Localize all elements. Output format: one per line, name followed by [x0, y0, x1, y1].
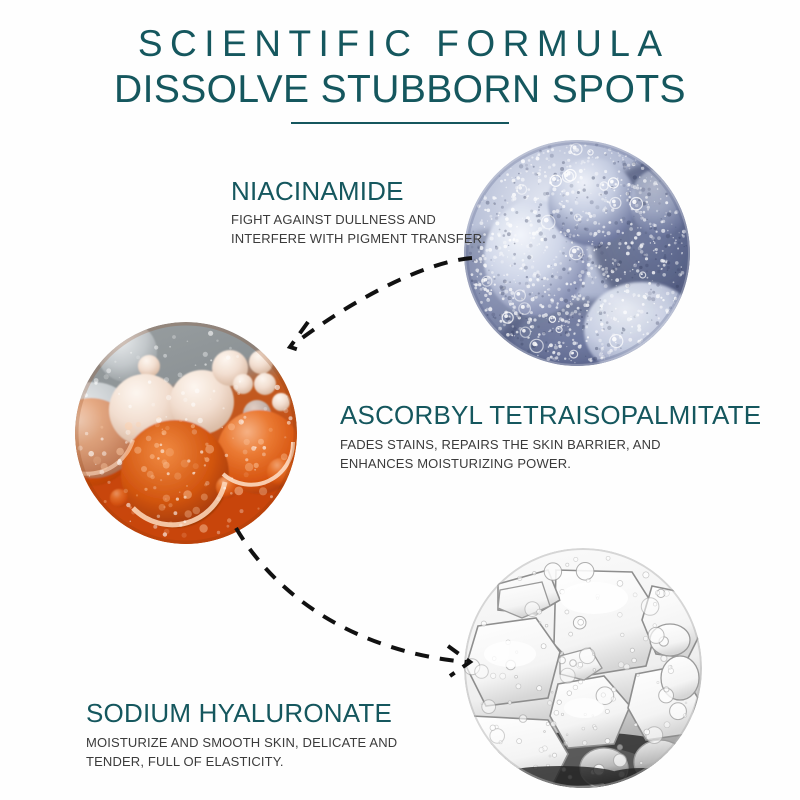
infographic-canvas: SCIENTIFIC FORMULA DISSOLVE STUBBORN SPO… [0, 0, 800, 800]
section-title-niacinamide: NIACINAMIDE [231, 176, 491, 206]
section-title-sodium: SODIUM HYALURONATE [86, 698, 456, 729]
section-ascorbyl: ASCORBYL TETRAISOPALMITATE FADES STAINS,… [340, 400, 690, 473]
section-body-ascorbyl: FADES STAINS, REPAIRS THE SKIN BARRIER, … [340, 436, 690, 473]
arrow-niacinamide-to-ascorbyl [290, 258, 472, 352]
page-header: SCIENTIFIC FORMULA DISSOLVE STUBBORN SPO… [0, 22, 800, 124]
header-divider-rule [291, 122, 509, 124]
page-title-line-1: SCIENTIFIC FORMULA [0, 22, 800, 66]
section-niacinamide: NIACINAMIDE FIGHT AGAINST DULLNESS AND I… [231, 176, 491, 248]
section-body-niacinamide: FIGHT AGAINST DULLNESS AND INTERFERE WIT… [231, 211, 491, 248]
section-title-ascorbyl: ASCORBYL TETRAISOPALMITATE [340, 400, 690, 431]
section-sodium: SODIUM HYALURONATE MOISTURIZE AND SMOOTH… [86, 698, 456, 771]
arrow-ascorbyl-to-sodium [236, 528, 470, 676]
ascorbyl-image [75, 322, 297, 544]
niacinamide-image [464, 140, 690, 366]
section-body-sodium: MOISTURIZE AND SMOOTH SKIN, DELICATE AND… [86, 734, 456, 771]
sodium-image [464, 548, 702, 788]
page-title-line-2: DISSOLVE STUBBORN SPOTS [0, 67, 800, 113]
